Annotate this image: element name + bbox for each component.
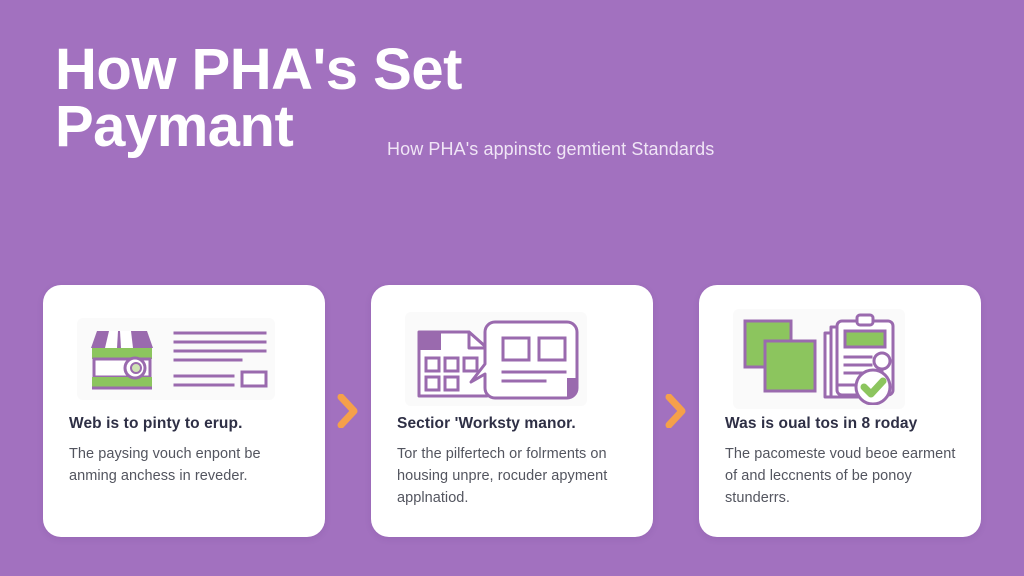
step-card-3[interactable]: Was is oual tos in 8 roday The pacomeste… — [699, 285, 981, 537]
icon-plate — [733, 309, 905, 409]
step-card-2-body: Tor the pilfertech or folrments on housi… — [397, 443, 631, 509]
icon-plate — [77, 318, 275, 400]
step-card-2[interactable]: Sectior 'Worksty manor. Tor the pilferte… — [371, 285, 653, 537]
clipboard-check-icon — [739, 313, 899, 405]
grid-document-panel-icon — [411, 316, 581, 402]
storefront-icon — [83, 322, 161, 396]
chevron-right-icon-glyph — [665, 394, 687, 428]
infographic-canvas: How PHA's Set Paymant How PHA's appinstc… — [0, 0, 1024, 576]
steps-row: Web is to pinty to erup. The paysing vou… — [43, 285, 981, 537]
chevron-right-icon — [325, 285, 371, 537]
step-card-3-heading: Was is oual tos in 8 roday — [725, 415, 959, 434]
icon-plate — [405, 312, 587, 406]
grid-document-and-panel-icon — [397, 307, 631, 411]
header: How PHA's Set Paymant How PHA's appinstc… — [55, 42, 955, 156]
step-card-3-body: The pacomeste voud beoe earment of and l… — [725, 443, 959, 509]
chevron-right-icon — [653, 285, 699, 537]
page-subtitle: How PHA's appinstc gemtient Standards — [387, 139, 714, 160]
document-lines-icon — [171, 326, 269, 392]
step-card-2-heading: Sectior 'Worksty manor. — [397, 415, 631, 434]
step-card-1-heading: Web is to pinty to erup. — [69, 415, 303, 434]
step-card-1[interactable]: Web is to pinty to erup. The paysing vou… — [43, 285, 325, 537]
step-card-1-body: The paysing vouch enpont be anming anche… — [69, 443, 303, 487]
chevron-right-icon-glyph — [337, 394, 359, 428]
storefront-and-document-icon — [69, 307, 303, 411]
stacked-squares-and-clipboard-check-icon — [725, 307, 959, 411]
